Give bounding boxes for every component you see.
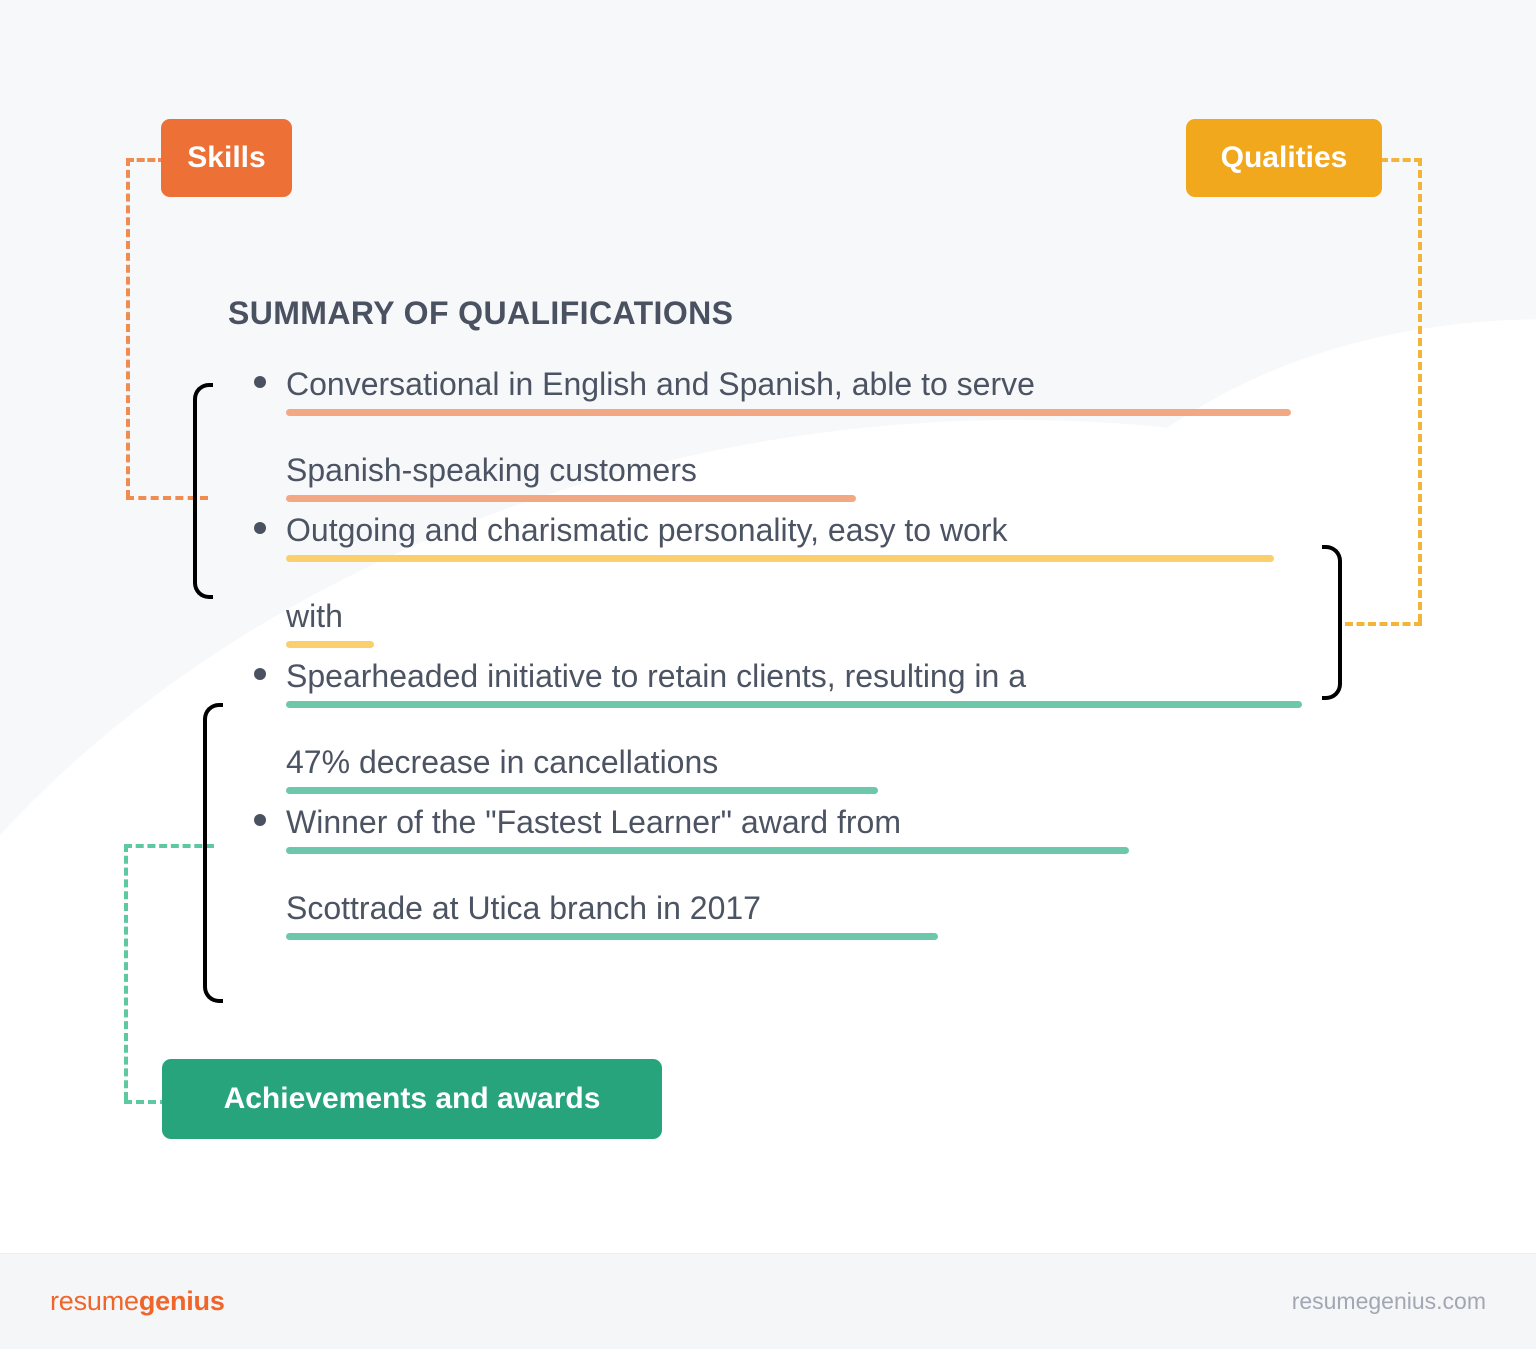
line-spacer	[286, 706, 1348, 732]
page-footer: resumegenius resumegenius.com	[0, 1253, 1536, 1349]
connector-skills-vertical-segment	[126, 158, 130, 498]
connector-achievements-top-segment	[124, 844, 214, 848]
underline-highlight	[286, 409, 1291, 416]
badge-skills[interactable]: Skills	[161, 119, 292, 197]
logo-text-bold: genius	[139, 1286, 225, 1316]
badge-achievements-label: Achievements and awards	[224, 1082, 601, 1116]
badge-qualities[interactable]: Qualities	[1186, 119, 1382, 197]
connector-achievements-vertical-segment	[124, 844, 128, 1100]
underline-highlight	[286, 555, 1274, 562]
badge-qualities-label: Qualities	[1221, 141, 1348, 175]
qualifications-block: SUMMARY OF QUALIFICATIONS Conversational…	[228, 295, 1348, 938]
badge-skills-label: Skills	[187, 141, 265, 175]
connector-skills-bottom-segment	[126, 496, 208, 500]
bullet-line: Spanish-speaking customers	[286, 440, 1348, 500]
line-spacer	[286, 852, 1348, 878]
qualifications-list: Conversational in English and Spanish, a…	[228, 354, 1348, 938]
badge-achievements[interactable]: Achievements and awards	[162, 1059, 662, 1139]
underline-highlight	[286, 847, 1129, 854]
footer-website-url: resumegenius.com	[1292, 1288, 1486, 1315]
bracket-skills	[193, 383, 213, 599]
connector-qualities-vertical-segment	[1418, 158, 1422, 622]
connector-skills-top-segment	[126, 158, 166, 162]
bullet-line: Winner of the "Fastest Learner" award fr…	[286, 792, 1348, 852]
list-item: Spearheaded initiative to retain clients…	[228, 646, 1348, 792]
bullet-line-text: with	[286, 598, 343, 634]
connector-qualities-top-segment	[1380, 158, 1422, 162]
logo-text-light: resume	[50, 1286, 139, 1316]
bullet-line-text: Spearheaded initiative to retain clients…	[286, 658, 1026, 694]
bullet-line-text: Outgoing and charismatic personality, ea…	[286, 512, 1008, 548]
bullet-line-text: Conversational in English and Spanish, a…	[286, 366, 1035, 402]
list-item: Conversational in English and Spanish, a…	[228, 354, 1348, 500]
underline-highlight	[286, 701, 1302, 708]
bullet-line-text: Scottrade at Utica branch in 2017	[286, 890, 761, 926]
bullet-line: Scottrade at Utica branch in 2017	[286, 878, 1348, 938]
resumegenius-logo[interactable]: resumegenius	[50, 1286, 225, 1317]
infographic-canvas: Skills Qualities Achievements and awards…	[0, 0, 1536, 1349]
bullet-line: Conversational in English and Spanish, a…	[286, 354, 1348, 414]
line-spacer	[286, 560, 1348, 586]
bullet-line-text: 47% decrease in cancellations	[286, 744, 718, 780]
list-item: Outgoing and charismatic personality, ea…	[228, 500, 1348, 646]
bullet-line-text: Spanish-speaking customers	[286, 452, 697, 488]
underline-highlight	[286, 933, 938, 940]
page-title: SUMMARY OF QUALIFICATIONS	[228, 295, 1348, 332]
list-item: Winner of the "Fastest Learner" award fr…	[228, 792, 1348, 938]
line-spacer	[286, 414, 1348, 440]
connector-qualities-bottom-segment	[1345, 622, 1422, 626]
bullet-line-text: Winner of the "Fastest Learner" award fr…	[286, 804, 901, 840]
bullet-line: 47% decrease in cancellations	[286, 732, 1348, 792]
bracket-achievements	[203, 703, 223, 1003]
bullet-line: with	[286, 586, 1348, 646]
bullet-line: Outgoing and charismatic personality, ea…	[286, 500, 1348, 560]
bullet-line: Spearheaded initiative to retain clients…	[286, 646, 1348, 706]
